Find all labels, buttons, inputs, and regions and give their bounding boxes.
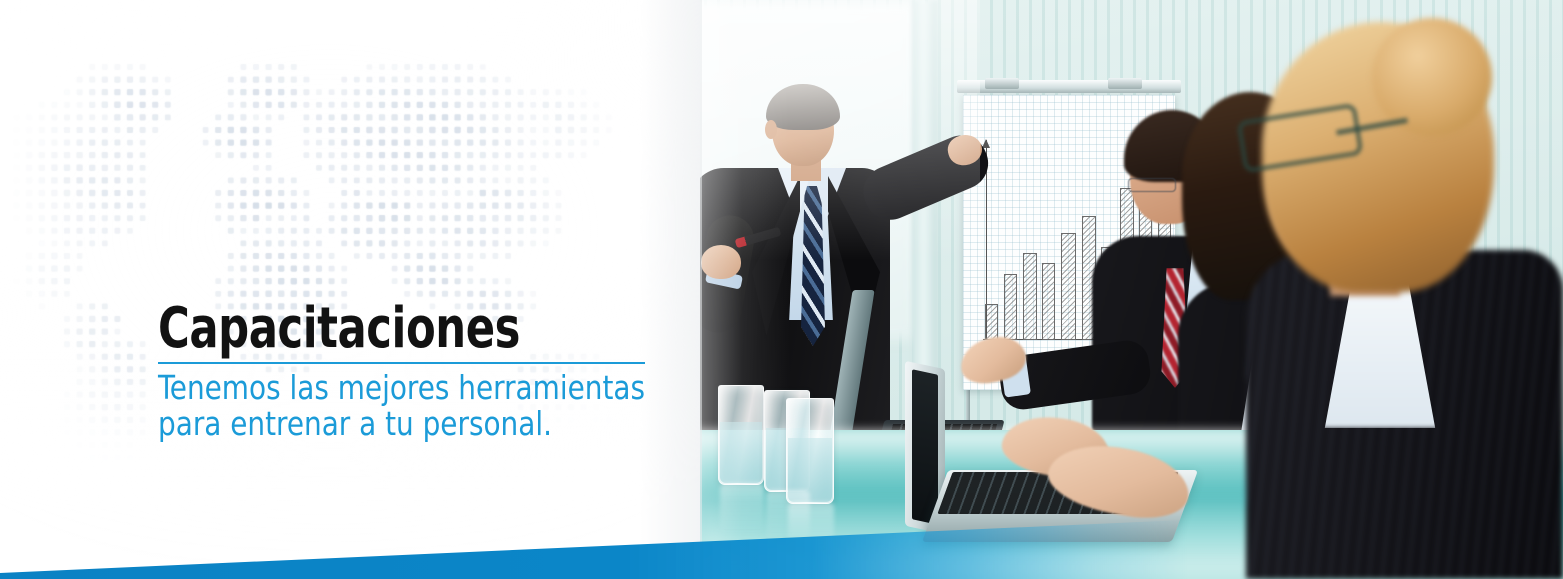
attendee-woman-blonde-bun (1372, 18, 1492, 136)
chart-bar (1004, 274, 1017, 340)
title-underline-rule (158, 362, 645, 364)
glass-reflection (720, 483, 764, 535)
attendee-man-eyeglasses (1128, 178, 1176, 192)
laptop-silver-screen (912, 369, 938, 525)
chart-bar (1061, 233, 1076, 340)
water-glass (718, 385, 764, 485)
hero-subtitle-line-1: Tenemos las mejores herramientas (158, 370, 666, 406)
flipchart-clip-right (1108, 78, 1142, 89)
hero-subtitle-line-2: para entrenar a tu personal. (158, 406, 666, 442)
water-glass (786, 398, 834, 504)
water-glass-liquid (720, 422, 762, 483)
hero-subtitle: Tenemos las mejores herramientas para en… (158, 370, 666, 441)
chart-bar (1023, 253, 1037, 340)
hero-banner: Capacitaciones Tenemos las mejores herra… (0, 0, 1563, 579)
chart-bar (1042, 263, 1055, 340)
presenter-hand-with-marker (701, 245, 741, 279)
page-title: Capacitaciones (158, 300, 588, 357)
hero-text-block: Capacitaciones Tenemos las mejores herra… (158, 300, 658, 357)
presenter-ear (765, 120, 777, 139)
glass-reflection (788, 502, 834, 552)
left-content-panel (0, 0, 700, 579)
flipchart-clip-left (985, 78, 1019, 89)
chart-bar (985, 304, 998, 340)
